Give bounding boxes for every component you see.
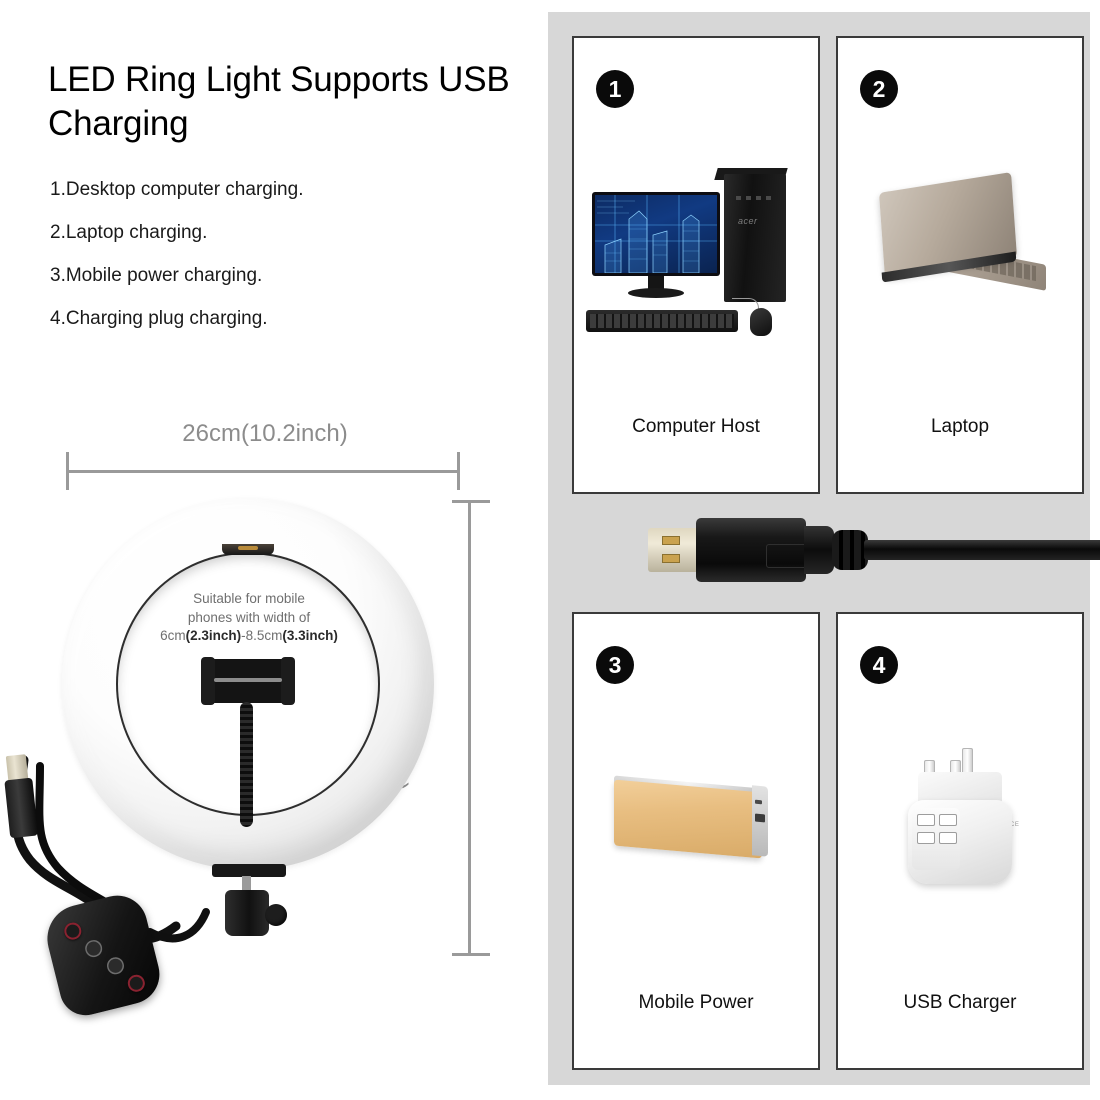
device-card-computer-host: 1 acer: [572, 36, 820, 494]
charger-usb-port-3: [917, 832, 935, 844]
controller-button-power[interactable]: [63, 921, 84, 942]
pc-keyboard: [586, 310, 738, 332]
card-number-badge: 4: [860, 646, 898, 684]
charger-usb-port-2: [939, 814, 957, 826]
usb-connector-taper: [804, 526, 834, 574]
card-number-badge: 3: [596, 646, 634, 684]
height-dimension-tick-bottom: [452, 953, 490, 956]
width-dimension-tick-left: [66, 452, 69, 490]
monitor-stand-base: [628, 288, 684, 298]
feature-list: 1.Desktop computer charging. 2.Laptop ch…: [50, 180, 490, 352]
list-item: 2.Laptop charging.: [50, 223, 490, 242]
laptop-icon: [838, 158, 1082, 368]
pc-tower-ports: [736, 196, 774, 200]
phone-width-note-line1: Suitable for mobile: [193, 591, 305, 606]
power-bank-icon: [574, 734, 818, 944]
power-bank-body: [614, 780, 762, 859]
device-card-usb-charger: 4 CE USB Charger: [836, 612, 1084, 1070]
card-number-badge: 2: [860, 70, 898, 108]
pc-keyboard-keys: [590, 314, 734, 328]
card-label: Computer Host: [574, 416, 818, 438]
height-dimension-tick-top: [452, 500, 490, 503]
ring-light-top-clip: [222, 544, 274, 555]
controller-button-brightness-up[interactable]: [83, 938, 104, 959]
usb-strain-relief: [832, 530, 868, 570]
charger-usb-port-4: [939, 832, 957, 844]
width-dimension-line: [66, 470, 460, 473]
usb-cord: [864, 540, 1100, 560]
ball-head-knob: [265, 904, 287, 926]
list-item: 3.Mobile power charging.: [50, 266, 490, 285]
phone-width-note: Suitable for mobile phones with width of…: [134, 590, 364, 646]
compatible-devices-panel: 1 acer: [548, 12, 1090, 1085]
charger-usb-port-1: [917, 814, 935, 826]
usb-charger-icon: CE: [838, 734, 1082, 944]
clamp-jaw-right: [281, 657, 295, 705]
controller-button-mode[interactable]: [126, 973, 147, 994]
device-card-mobile-power: 3 Mobile Power: [572, 612, 820, 1070]
left-content-pane: LED Ring Light Supports USB Charging 1.D…: [0, 0, 548, 1100]
list-item: 1.Desktop computer charging.: [50, 180, 490, 199]
screen-wireframe-city: [595, 195, 717, 273]
card-label: Laptop: [838, 416, 1082, 438]
clamp-rail: [214, 678, 282, 682]
phone-width-note-inch2: (3.3inch): [282, 628, 338, 643]
width-dimension-label: 26cm(10.2inch): [65, 420, 465, 448]
list-item: 4.Charging plug charging.: [50, 309, 490, 328]
power-bank-usb-port: [755, 814, 765, 823]
pc-mouse: [750, 308, 772, 336]
pc-brand-label: acer: [738, 216, 758, 226]
usb-plug-housing: [4, 778, 38, 839]
usb-connector-shell: [696, 518, 806, 582]
controller-button-brightness-down[interactable]: [105, 955, 126, 976]
device-card-laptop: 2 Laptop: [836, 36, 1084, 494]
desktop-computer-icon: acer: [574, 158, 818, 368]
clamp-jaw-left: [201, 657, 215, 705]
card-label: Mobile Power: [574, 992, 818, 1014]
usb-cable-connector: [648, 512, 1090, 588]
phone-width-note-cm1: 6cm: [160, 628, 186, 643]
phone-width-note-inch1: (2.3inch): [186, 628, 242, 643]
page-title: LED Ring Light Supports USB Charging: [48, 58, 518, 146]
pc-screen: [595, 195, 717, 273]
pc-tower: acer: [724, 174, 786, 302]
width-dimension-tick-right: [457, 452, 460, 490]
phone-holder-clamp: [201, 657, 295, 705]
phone-width-note-cm2: -8.5cm: [241, 628, 282, 643]
height-dimension-line: [468, 500, 471, 955]
card-number-badge: 1: [596, 70, 634, 108]
usb-connector-contact: [648, 528, 700, 572]
card-label: USB Charger: [838, 992, 1082, 1014]
power-bank-micro-usb-port: [755, 800, 762, 805]
phone-width-note-line2: phones with width of: [188, 610, 310, 625]
pc-monitor: [592, 192, 720, 276]
